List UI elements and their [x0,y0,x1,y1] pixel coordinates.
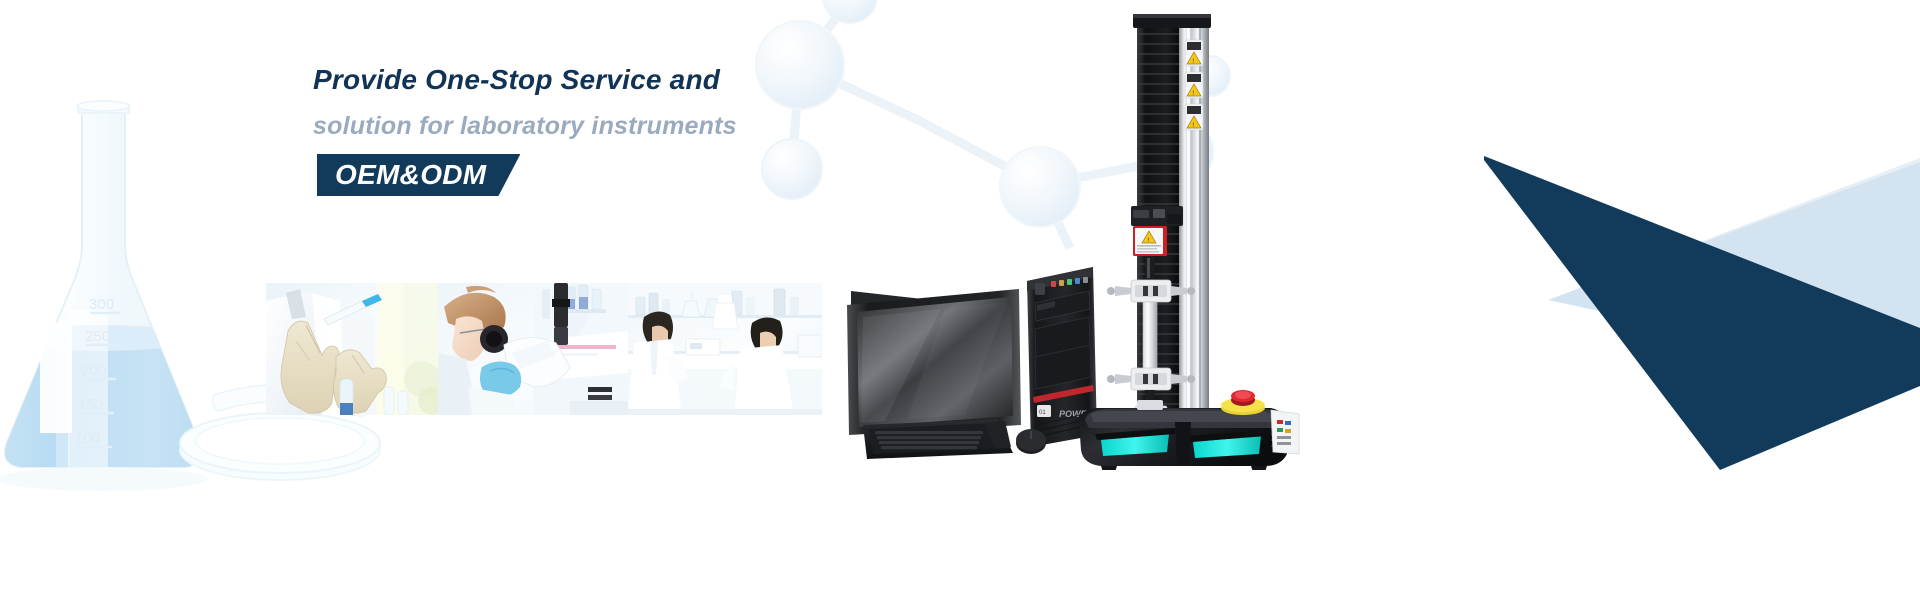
flask-grad-100: 100 [75,430,100,447]
headline-line-1: Provide One-Stop Service and [313,58,1033,102]
machine-base [1079,400,1289,470]
oem-odm-badge: OEM&ODM [317,154,520,196]
warning-label-3: ! [1185,104,1203,130]
headline-line-2: solution for laboratory instruments [313,104,1033,148]
universal-tensile-testing-machine: ! ! ! [1075,10,1305,470]
flask-grad-250: 250 [85,328,110,345]
controller-panel [1271,410,1299,454]
photo-gloved-hands-pipetting [266,283,438,415]
badge-row: OEM&ODM [313,154,1033,198]
keyboard [863,419,1013,459]
flask-unit-label: mL [48,322,70,339]
flask-grad-200: 200 [81,362,106,379]
warning-label-1: ! [1185,40,1203,66]
svg-text:POWER: POWER [919,425,945,432]
lab-photo-strip [266,283,822,415]
flask-grad-300: 300 [89,296,114,313]
svg-text:01: 01 [1039,410,1046,416]
red-safety-label: ! [1133,226,1167,256]
headline-block: Provide One-Stop Service and solution fo… [313,58,1033,198]
mouse [1016,429,1046,454]
accent-glow-right [1193,436,1261,458]
decorative-arrow-triangles [1200,120,1920,470]
arrow-dark [1484,156,1920,470]
flask-grad-150: 150 [78,396,103,413]
warning-label-2: ! [1185,72,1203,98]
tower-brand-label: POWER [1059,409,1094,419]
photo-lab-technicians-bench [628,283,822,415]
svg-text:!: ! [1192,91,1194,97]
load-cell-crosshead [1131,206,1183,226]
photo-scientist-microscope [438,283,628,415]
upper-grip [1107,280,1195,302]
svg-text:!: ! [1192,123,1194,129]
lower-grip [1107,368,1195,390]
monitor: POWER [847,289,1021,435]
svg-text:!: ! [1147,238,1149,244]
emergency-stop-button [1221,390,1265,415]
accent-glow-left [1101,434,1169,456]
svg-text:!: ! [1192,59,1194,65]
hero-banner: 300 250 200 150 100 mL Provide One-Stop … [0,0,1920,597]
computer-tower: 01 POWER [1027,267,1097,447]
arrow-light [1548,160,1920,380]
